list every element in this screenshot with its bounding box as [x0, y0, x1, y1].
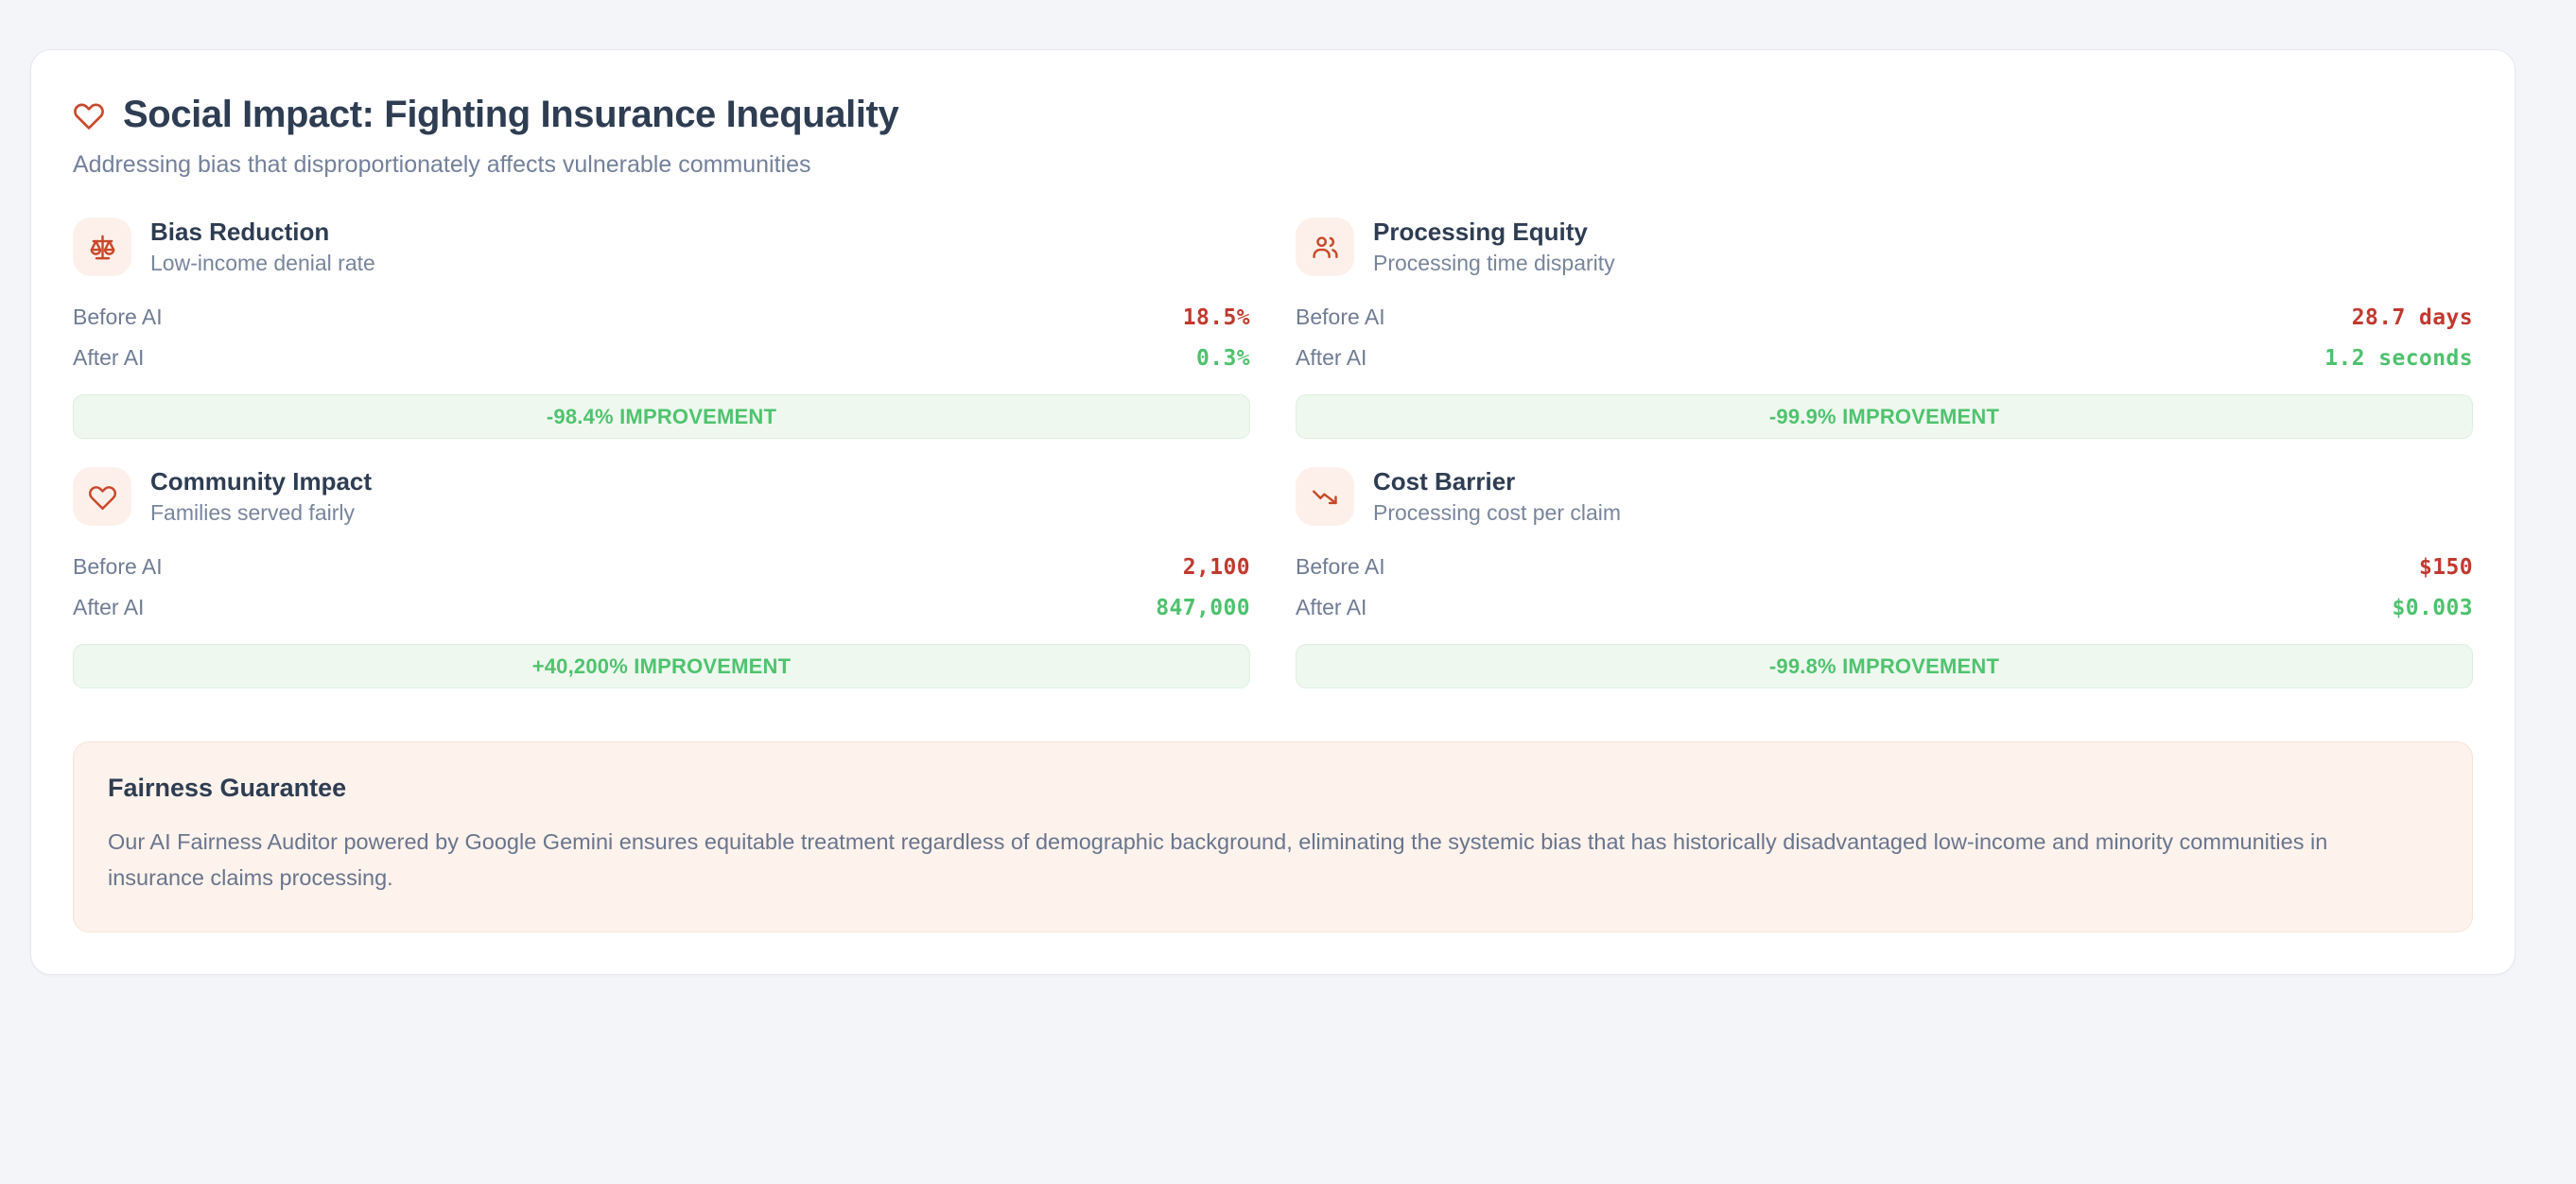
metric-card-cost-barrier: Cost Barrier Processing cost per claim B…	[1296, 467, 2473, 717]
improvement-badge: -99.9% IMPROVEMENT	[1296, 394, 2473, 439]
metric-row-after: After AI $0.003	[1296, 587, 2473, 628]
page-subtitle: Addressing bias that disproportionately …	[73, 149, 2473, 181]
metric-description: Families served fairly	[150, 500, 372, 525]
metric-after-label: After AI	[73, 595, 144, 620]
metric-card-bias-reduction: Bias Reduction Low-income denial rate Be…	[73, 218, 1250, 467]
metric-before-value: 28.7 days	[2352, 305, 2473, 330]
page-root: Social Impact: Fighting Insurance Inequa…	[0, 0, 2576, 1184]
metric-before-label: Before AI	[1296, 554, 1385, 580]
metric-after-label: After AI	[1296, 345, 1366, 371]
fairness-guarantee-body: Our AI Fairness Auditor powered by Googl…	[108, 824, 2396, 896]
metric-header-text: Bias Reduction Low-income denial rate	[150, 218, 375, 276]
improvement-badge: -99.8% IMPROVEMENT	[1296, 644, 2473, 688]
metric-row-after: After AI 1.2 seconds	[1296, 338, 2473, 378]
heart-icon	[88, 482, 117, 512]
scales-balance-icon	[88, 233, 117, 262]
metric-description: Processing time disparity	[1373, 251, 1615, 275]
metric-header-text: Cost Barrier Processing cost per claim	[1373, 468, 1621, 526]
metric-after-value: 847,000	[1156, 596, 1250, 620]
metric-after-value: $0.003	[2393, 596, 2473, 620]
metric-before-value: 2,100	[1183, 555, 1250, 580]
metric-after-value: 1.2 seconds	[2324, 346, 2473, 371]
metric-header: Processing Equity Processing time dispar…	[1296, 218, 2473, 276]
metric-description: Processing cost per claim	[1373, 500, 1621, 525]
metric-title: Processing Equity	[1373, 218, 1615, 246]
trending-down-icon	[1311, 482, 1340, 512]
metric-row-before: Before AI $150	[1296, 547, 2473, 587]
metric-card-processing-equity: Processing Equity Processing time dispar…	[1296, 218, 2473, 467]
panel-header: Social Impact: Fighting Insurance Inequa…	[73, 94, 2473, 180]
metric-header: Cost Barrier Processing cost per claim	[1296, 467, 2473, 526]
metric-header-text: Community Impact Families served fairly	[150, 468, 372, 526]
heart-icon	[73, 97, 105, 131]
metric-title: Community Impact	[150, 468, 372, 496]
metric-row-before: Before AI 18.5%	[73, 297, 1250, 338]
metric-icon-tile	[1296, 218, 1354, 276]
improvement-badge: +40,200% IMPROVEMENT	[73, 644, 1250, 688]
metric-icon-tile	[1296, 467, 1354, 526]
metric-title: Bias Reduction	[150, 218, 375, 246]
metric-before-value: 18.5%	[1183, 305, 1250, 330]
improvement-badge: -98.4% IMPROVEMENT	[73, 394, 1250, 439]
metric-icon-tile	[73, 218, 131, 276]
metric-after-label: After AI	[73, 345, 144, 371]
metric-icon-tile	[73, 467, 131, 526]
metric-header: Bias Reduction Low-income denial rate	[73, 218, 1250, 276]
fairness-guarantee-title: Fairness Guarantee	[108, 775, 2438, 803]
page-title: Social Impact: Fighting Insurance Inequa…	[123, 94, 898, 136]
title-row: Social Impact: Fighting Insurance Inequa…	[73, 94, 2473, 136]
fairness-guarantee-callout: Fairness Guarantee Our AI Fairness Audit…	[73, 741, 2473, 932]
metric-before-label: Before AI	[1296, 305, 1385, 330]
metric-title: Cost Barrier	[1373, 468, 1621, 496]
metric-row-after: After AI 0.3%	[73, 338, 1250, 378]
metric-before-label: Before AI	[73, 554, 163, 580]
metric-row-before: Before AI 2,100	[73, 547, 1250, 587]
metric-after-value: 0.3%	[1196, 346, 1250, 371]
social-impact-panel: Social Impact: Fighting Insurance Inequa…	[30, 49, 2515, 975]
metric-header: Community Impact Families served fairly	[73, 467, 1250, 526]
metric-before-label: Before AI	[73, 305, 163, 330]
metrics-grid: Bias Reduction Low-income denial rate Be…	[73, 218, 2473, 717]
metric-after-label: After AI	[1296, 595, 1366, 620]
users-icon	[1311, 233, 1340, 262]
metric-before-value: $150	[2419, 555, 2473, 580]
metric-description: Low-income denial rate	[150, 251, 375, 275]
metric-row-after: After AI 847,000	[73, 587, 1250, 628]
metric-header-text: Processing Equity Processing time dispar…	[1373, 218, 1615, 276]
metric-card-community-impact: Community Impact Families served fairly …	[73, 467, 1250, 717]
metric-row-before: Before AI 28.7 days	[1296, 297, 2473, 338]
